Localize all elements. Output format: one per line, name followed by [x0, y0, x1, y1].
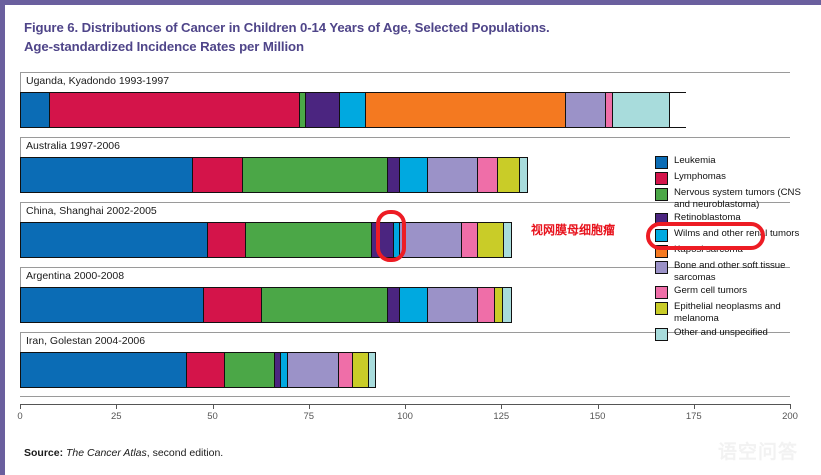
bar-segment	[225, 353, 275, 387]
x-axis-tick-label: 125	[493, 411, 509, 422]
top-decorative-rule	[0, 0, 821, 5]
bar-segment	[50, 93, 300, 127]
legend-item[interactable]: Other and unspecified	[655, 327, 815, 341]
legend-color-swatch-icon	[655, 302, 668, 315]
legend-item[interactable]: Retinoblastoma	[655, 212, 815, 226]
legend-item[interactable]: Leukemia	[655, 155, 815, 169]
x-axis-tick	[116, 404, 117, 409]
bar-segment	[20, 353, 187, 387]
legend-item[interactable]: Kaposi sarcoma	[655, 244, 815, 258]
bar-segment	[520, 158, 528, 192]
legend-item-label: Wilms and other renal tumors	[674, 228, 799, 240]
x-axis-tick-label: 50	[207, 411, 218, 422]
figure-title-line-2: Age-standardized Incidence Rates per Mil…	[24, 37, 724, 56]
x-axis-tick-label: 100	[397, 411, 413, 422]
x-axis-tick	[405, 404, 406, 409]
legend-color-swatch-icon	[655, 213, 668, 226]
legend-item-label: Leukemia	[674, 155, 716, 167]
x-axis-tick	[501, 404, 502, 409]
source-suffix: , second edition.	[147, 447, 223, 459]
bar-segment	[503, 288, 512, 322]
legend-color-swatch-icon	[655, 229, 668, 242]
figure-title-line-1: Figure 6. Distributions of Cancer in Chi…	[24, 20, 550, 35]
bar-segment	[187, 353, 225, 387]
legend-item[interactable]: Nervous system tumors (CNS and neuroblas…	[655, 187, 815, 210]
legend-item[interactable]: Wilms and other renal tumors	[655, 228, 815, 242]
bar-segment	[20, 223, 208, 257]
x-axis-tick-label: 150	[590, 411, 606, 422]
x-axis-tick	[694, 404, 695, 409]
source-prefix: Source:	[24, 447, 63, 459]
bar-segment	[400, 223, 462, 257]
row-separator	[20, 137, 790, 138]
bar-segment	[353, 353, 369, 387]
row-label: China, Shanghai 2002-2005	[20, 202, 157, 220]
bar-segment	[613, 93, 670, 127]
legend-item-label: Retinoblastoma	[674, 212, 741, 224]
bar-segment	[478, 158, 498, 192]
row-label: Australia 1997-2006	[20, 137, 120, 155]
annotation-label-retinoblastoma: 视网膜母细胞瘤	[531, 221, 615, 238]
legend-item-label: Lymphomas	[674, 171, 726, 183]
chart-row: Uganda, Kyadondo 1993-1997	[20, 72, 790, 128]
bar-segment	[204, 288, 262, 322]
left-decorative-rule	[0, 0, 5, 475]
legend-item-label: Germ cell tumors	[674, 285, 747, 297]
x-axis-tick	[20, 404, 21, 409]
bar-segment	[372, 223, 394, 257]
bar-segment	[288, 353, 339, 387]
source-note: Source: The Cancer Atlas, second edition…	[24, 447, 223, 459]
x-axis-tick-label: 200	[782, 411, 798, 422]
legend-item[interactable]: Bone and other soft tissue sarcomas	[655, 260, 815, 283]
x-axis-tick-label: 25	[111, 411, 122, 422]
x-axis-tick-label: 75	[303, 411, 314, 422]
x-axis-tick-label: 175	[686, 411, 702, 422]
legend-item-label: Other and unspecified	[674, 327, 768, 339]
stacked-bar	[20, 287, 512, 323]
row-label: Uganda, Kyadondo 1993-1997	[20, 72, 169, 90]
legend-color-swatch-icon	[655, 261, 668, 274]
x-axis-tick	[790, 404, 791, 409]
row-separator	[20, 396, 790, 397]
bar-segment	[606, 93, 613, 127]
x-axis-tick	[213, 404, 214, 409]
stacked-bar	[20, 92, 686, 128]
legend-item[interactable]: Epithelial neoplasms and melanoma	[655, 301, 815, 324]
bar-segment	[400, 158, 428, 192]
legend-color-swatch-icon	[655, 286, 668, 299]
bar-segment	[428, 158, 478, 192]
bar-segment	[306, 93, 339, 127]
stacked-bar	[20, 222, 512, 258]
legend-item[interactable]: Lymphomas	[655, 171, 815, 185]
bar-segment	[339, 353, 353, 387]
legend-color-swatch-icon	[655, 172, 668, 185]
bar-segment	[262, 288, 388, 322]
x-axis-tick	[598, 404, 599, 409]
bar-segment	[193, 158, 243, 192]
chart-legend: LeukemiaLymphomasNervous system tumors (…	[655, 155, 815, 343]
bar-segment	[478, 223, 503, 257]
bar-segment	[566, 93, 606, 127]
bar-segment	[20, 158, 193, 192]
legend-item-label: Epithelial neoplasms and melanoma	[674, 301, 815, 324]
legend-item-label: Bone and other soft tissue sarcomas	[674, 260, 815, 283]
x-axis: 0255075100125150175200	[20, 404, 790, 430]
bar-segment	[504, 223, 513, 257]
legend-color-swatch-icon	[655, 156, 668, 169]
legend-item-label: Nervous system tumors (CNS and neuroblas…	[674, 187, 815, 210]
source-title: The Cancer Atlas	[66, 447, 147, 459]
legend-color-swatch-icon	[655, 188, 668, 201]
bar-segment	[388, 288, 400, 322]
legend-item-label: Kaposi sarcoma	[674, 244, 743, 256]
bar-segment	[246, 223, 372, 257]
bar-segment	[428, 288, 478, 322]
stacked-bar	[20, 157, 528, 193]
legend-color-swatch-icon	[655, 245, 668, 258]
bar-segment	[388, 158, 400, 192]
bar-segment	[20, 93, 50, 127]
bar-segment	[495, 288, 503, 322]
watermark: 语空问答	[704, 437, 812, 467]
bar-segment	[366, 93, 566, 127]
figure-title: Figure 6. Distributions of Cancer in Chi…	[24, 18, 724, 56]
bar-segment	[20, 288, 204, 322]
bar-segment	[243, 158, 388, 192]
stacked-bar	[20, 352, 376, 388]
bar-segment	[208, 223, 246, 257]
bar-segment	[478, 288, 495, 322]
x-axis-tick-label: 0	[17, 411, 22, 422]
row-label: Iran, Golestan 2004-2006	[20, 332, 145, 350]
bar-segment	[462, 223, 478, 257]
x-axis-tick	[309, 404, 310, 409]
bar-segment	[340, 93, 366, 127]
row-label: Argentina 2000-2008	[20, 267, 124, 285]
legend-color-swatch-icon	[655, 328, 668, 341]
legend-item[interactable]: Germ cell tumors	[655, 285, 815, 299]
bar-segment	[369, 353, 376, 387]
bar-segment	[400, 288, 428, 322]
bar-segment	[498, 158, 520, 192]
